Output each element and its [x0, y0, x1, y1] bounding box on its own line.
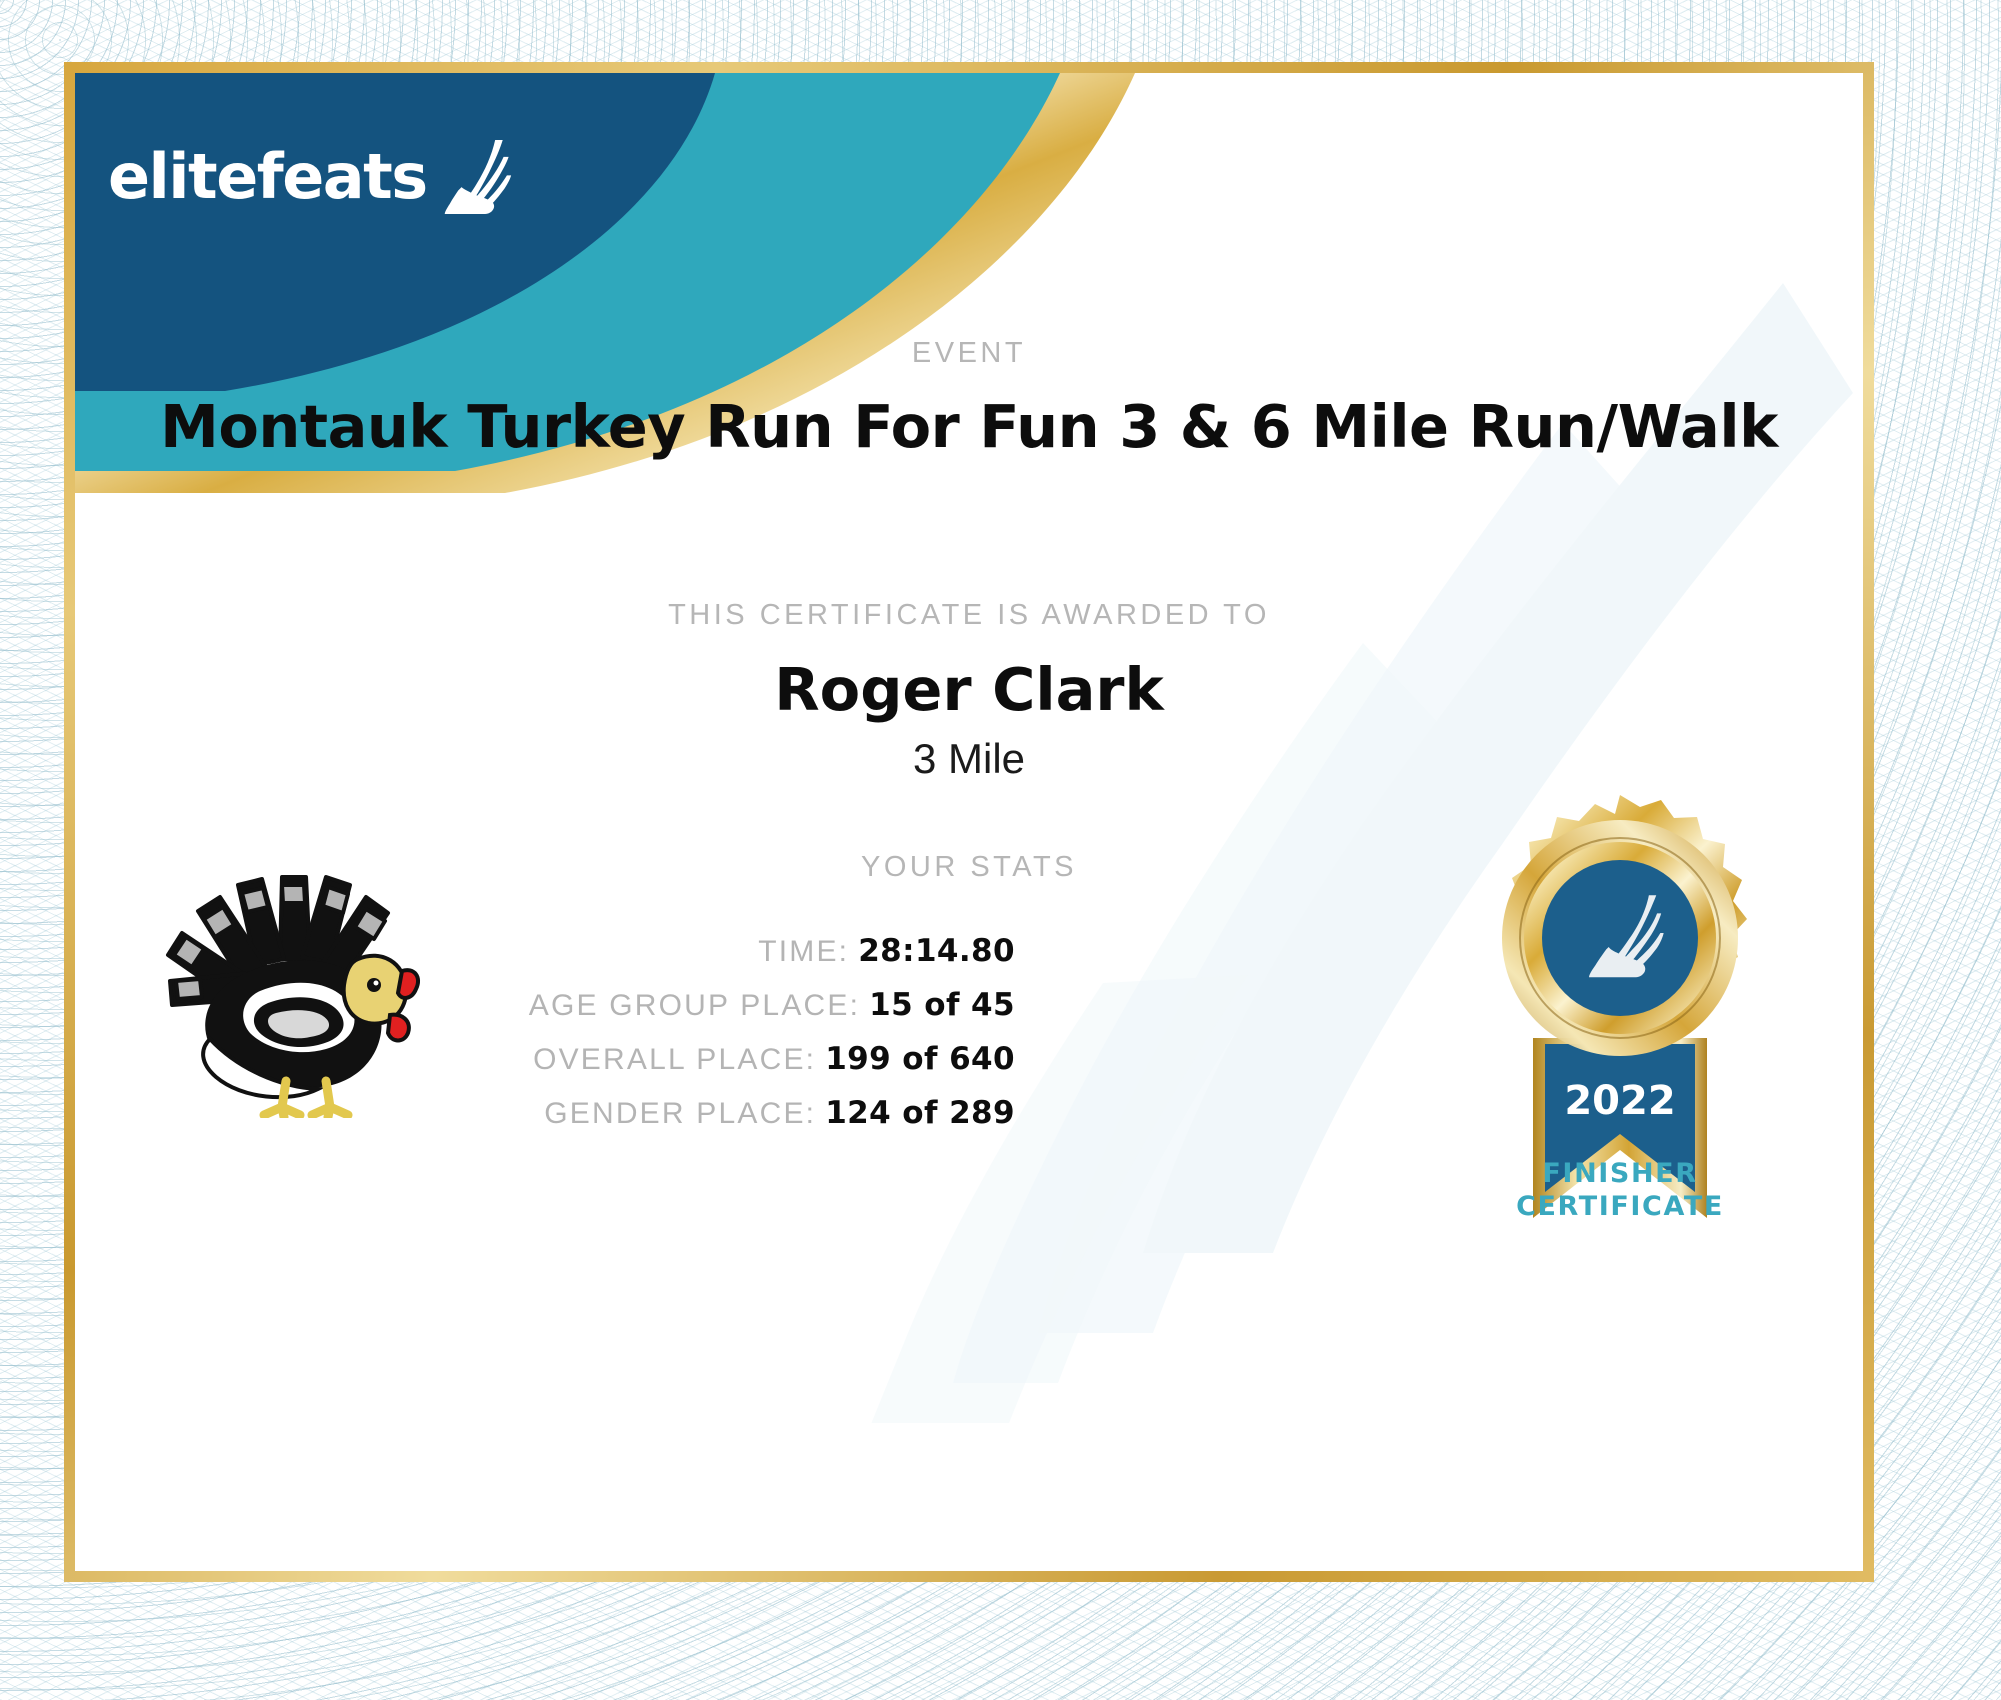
stat-key: GENDER PLACE: [544, 1097, 816, 1131]
event-title: Montauk Turkey Run For Fun 3 & 6 Mile Ru… [75, 392, 1863, 461]
stats-list: TIME: 28:14.80 AGE GROUP PLACE: 15 of 45… [335, 933, 1015, 1149]
event-label: EVENT [75, 337, 1863, 370]
stat-row-gender-place: GENDER PLACE: 124 of 289 [335, 1095, 1015, 1149]
stat-key: TIME: [758, 935, 849, 969]
stat-key: AGE GROUP PLACE: [529, 989, 860, 1023]
stat-value: 199 of 640 [825, 1041, 1015, 1077]
stat-row-age-group-place: AGE GROUP PLACE: 15 of 45 [335, 987, 1015, 1041]
stat-row-time: TIME: 28:14.80 [335, 933, 1015, 987]
recipient-name: Roger Clark [75, 655, 1863, 724]
certificate-body: EVENT Montauk Turkey Run For Fun 3 & 6 M… [75, 73, 1863, 1571]
medal-year-text: 2022 [1564, 1078, 1675, 1124]
stat-value: 28:14.80 [858, 933, 1015, 969]
turkey-icon [150, 863, 430, 1118]
awarded-to-label: THIS CERTIFICATE IS AWARDED TO [75, 599, 1863, 632]
medal-caption: FINISHER CERTIFICATE [1455, 1158, 1785, 1224]
stat-value: 15 of 45 [869, 987, 1015, 1023]
medal-caption-line2: CERTIFICATE [1455, 1191, 1785, 1224]
medal-caption-line1: FINISHER [1455, 1158, 1785, 1191]
stat-row-overall-place: OVERALL PLACE: 199 of 640 [335, 1041, 1015, 1095]
stat-value: 124 of 289 [825, 1095, 1015, 1131]
stat-key: OVERALL PLACE: [533, 1043, 816, 1077]
certificate-canvas: elitefeats EVENT Montauk Turkey Run For … [75, 73, 1863, 1571]
race-distance: 3 Mile [75, 735, 1863, 783]
